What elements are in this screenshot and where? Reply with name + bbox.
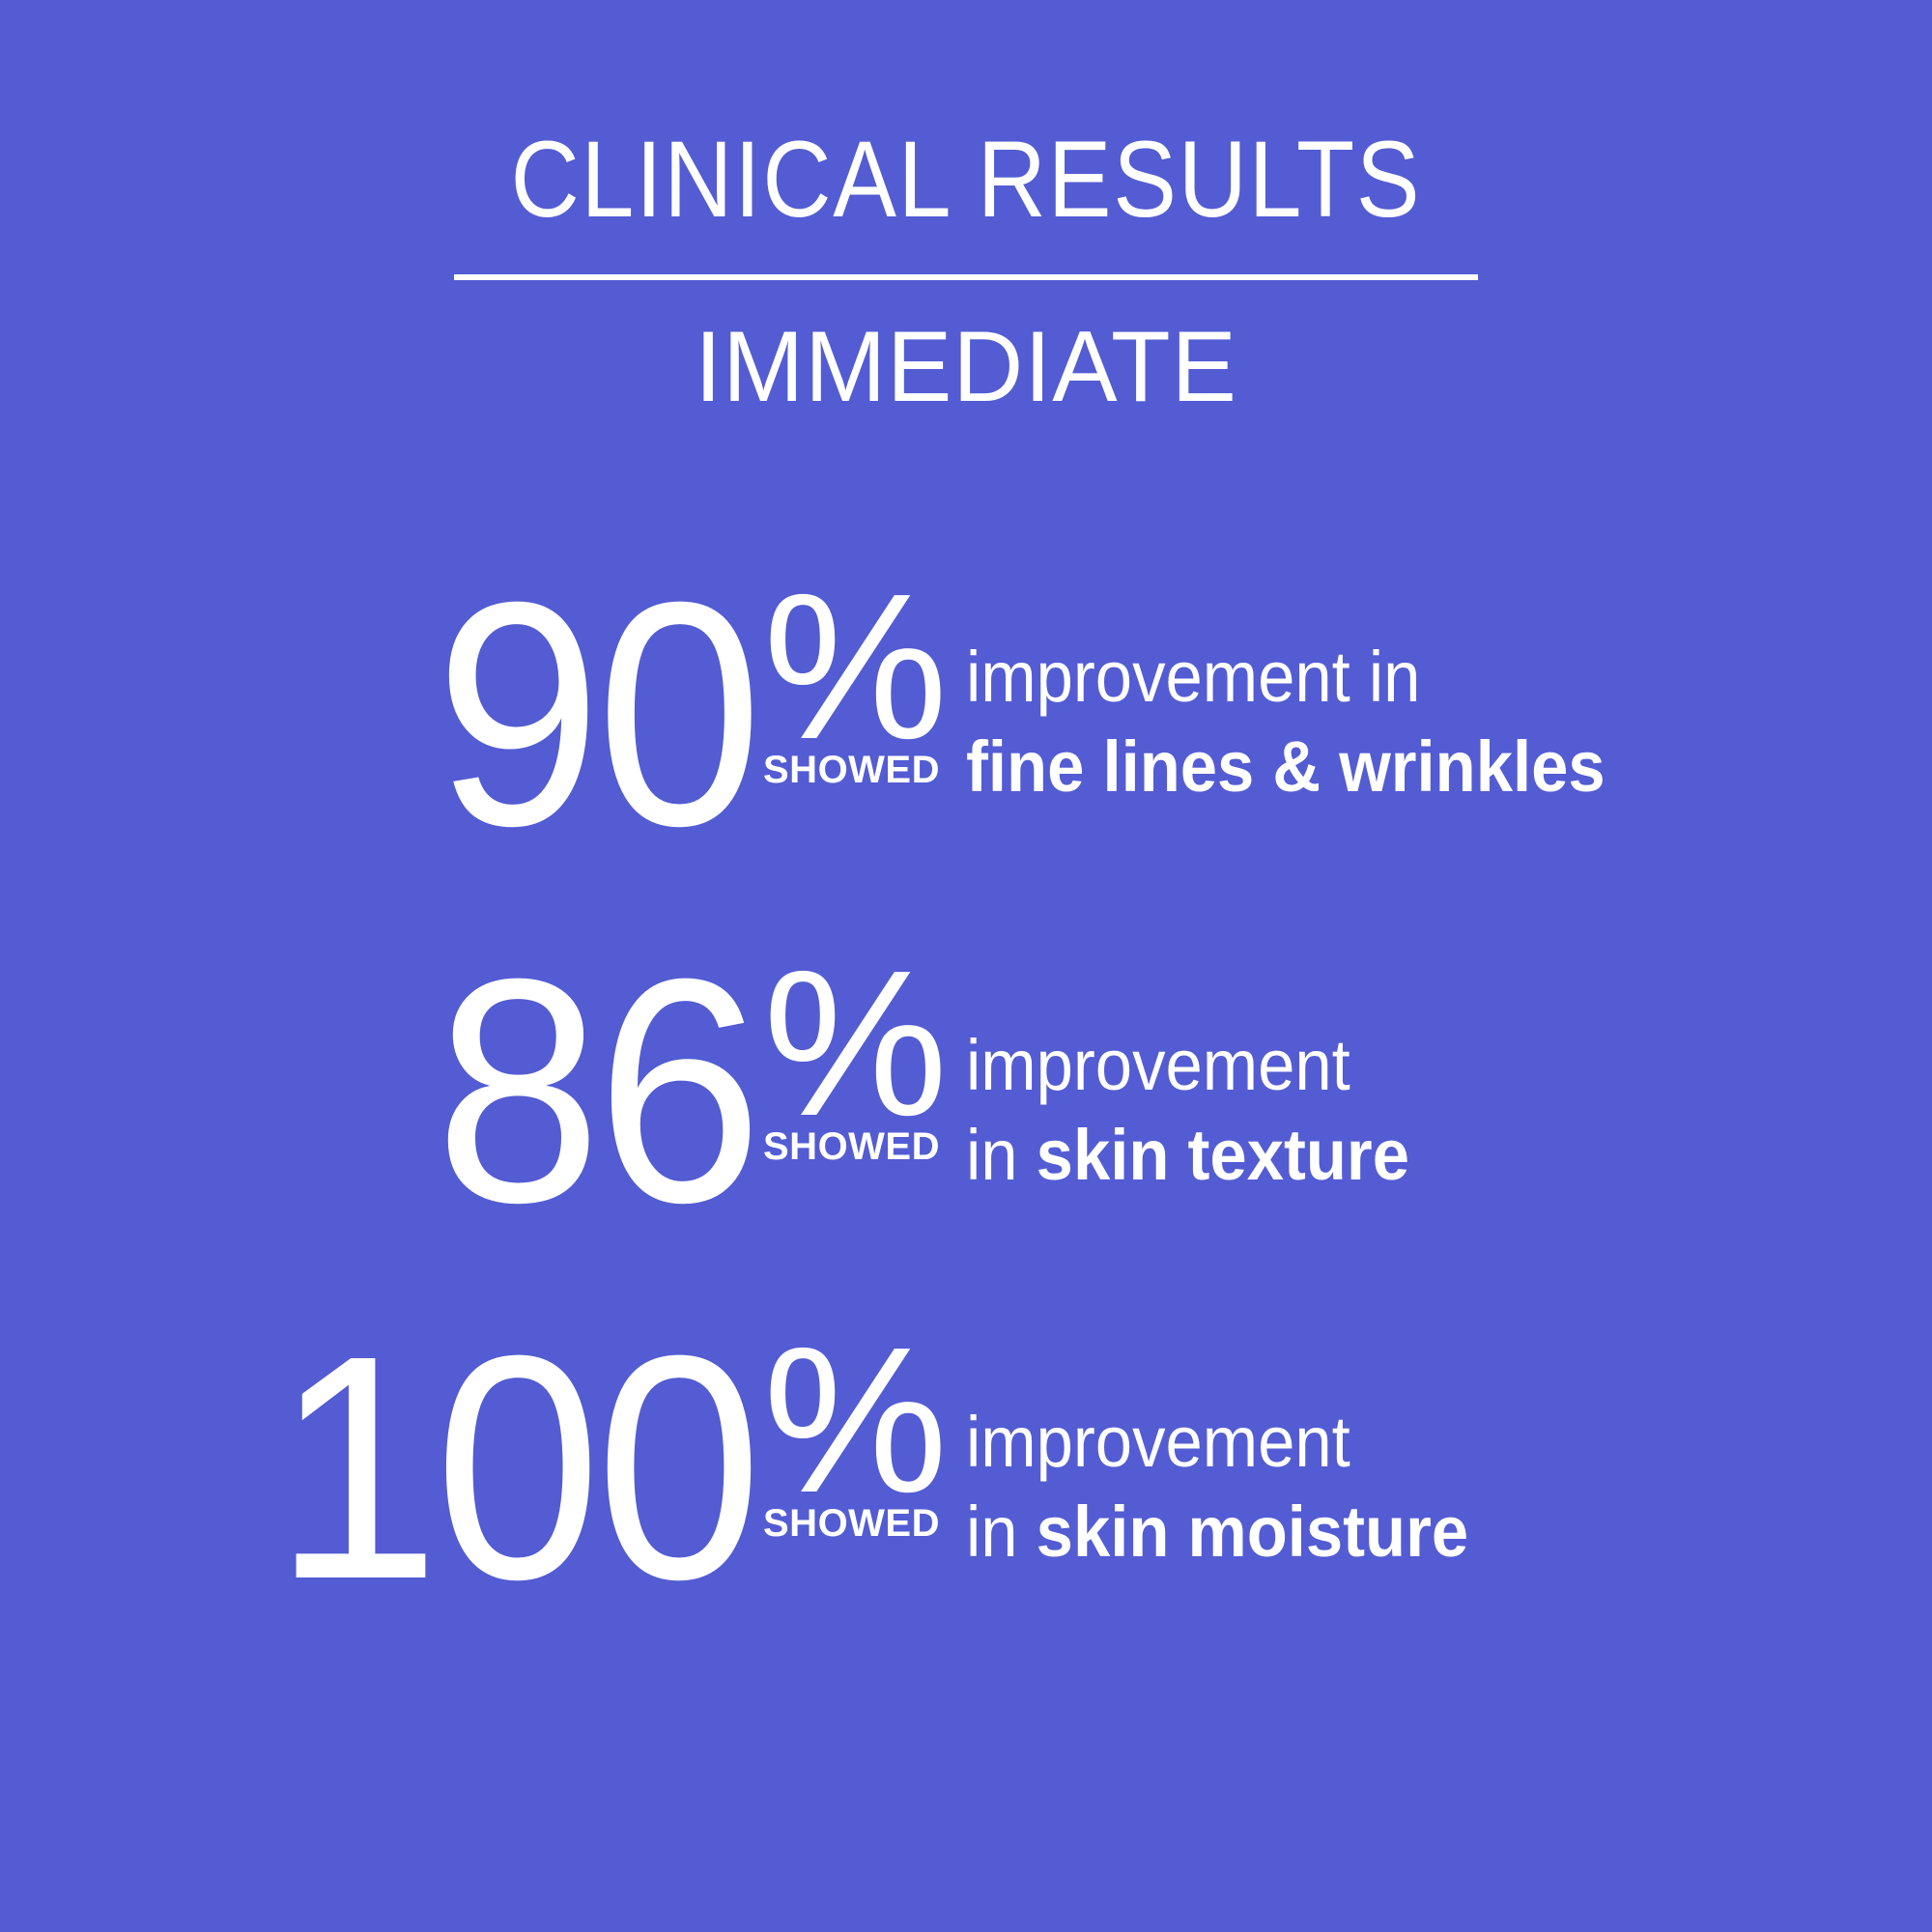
percent-sign-icon: % <box>763 1333 908 1508</box>
stat-description-line-1: improvement <box>966 1397 1864 1487</box>
stat-description-line-1: improvement <box>966 1020 1864 1110</box>
stat-description: improvement in fine lines & wrinkles <box>966 580 1864 811</box>
stat-description: improvement in skin moisture <box>966 1333 1864 1577</box>
stat-row: 86 % SHOWED improvement in skin texture <box>0 956 1932 1333</box>
stat-figure: 86 % SHOWED <box>0 956 966 1224</box>
stat-row: 90 % SHOWED improvement in fine lines & … <box>0 580 1932 956</box>
stat-description-line-1: improvement in <box>966 632 1864 722</box>
stat-row: 100 % SHOWED improvement in skin moistur… <box>0 1333 1932 1710</box>
header: CLINICAL RESULTS IMMEDIATE <box>0 126 1932 417</box>
stat-qualifier: SHOWED <box>763 749 908 792</box>
stat-description-line-2: in skin moisture <box>966 1487 1864 1577</box>
stat-description-line-2: fine lines & wrinkles <box>966 722 1864 811</box>
stats-list: 90 % SHOWED improvement in fine lines & … <box>0 580 1932 1710</box>
stat-description-line-2-prefix: in <box>966 1492 1037 1572</box>
percent-sign-icon: % <box>763 580 908 754</box>
stat-figure: 100 % SHOWED <box>0 1333 966 1601</box>
percent-sign-icon: % <box>763 956 908 1131</box>
percent-group: % SHOWED <box>763 1333 908 1546</box>
stat-figure: 90 % SHOWED <box>0 580 966 847</box>
stat-value: 90 <box>435 580 757 847</box>
stat-value: 86 <box>435 956 757 1224</box>
stat-description-line-2-emphasis: skin moisture <box>1037 1492 1468 1572</box>
stat-description: improvement in skin texture <box>966 956 1864 1200</box>
page-subtitle: IMMEDIATE <box>29 317 1903 417</box>
title-divider <box>454 274 1478 280</box>
stat-description-line-2: in skin texture <box>966 1110 1864 1200</box>
stat-qualifier: SHOWED <box>763 1125 908 1169</box>
stat-value: 100 <box>273 1333 757 1601</box>
percent-group: % SHOWED <box>763 956 908 1169</box>
clinical-results-poster: CLINICAL RESULTS IMMEDIATE 90 % SHOWED i… <box>0 0 1932 1932</box>
stat-qualifier: SHOWED <box>763 1502 908 1546</box>
stat-description-line-2-emphasis: skin texture <box>1037 1115 1409 1195</box>
page-title: CLINICAL RESULTS <box>116 126 1816 234</box>
stat-description-line-2-prefix: in <box>966 1115 1037 1195</box>
percent-group: % SHOWED <box>763 580 908 792</box>
